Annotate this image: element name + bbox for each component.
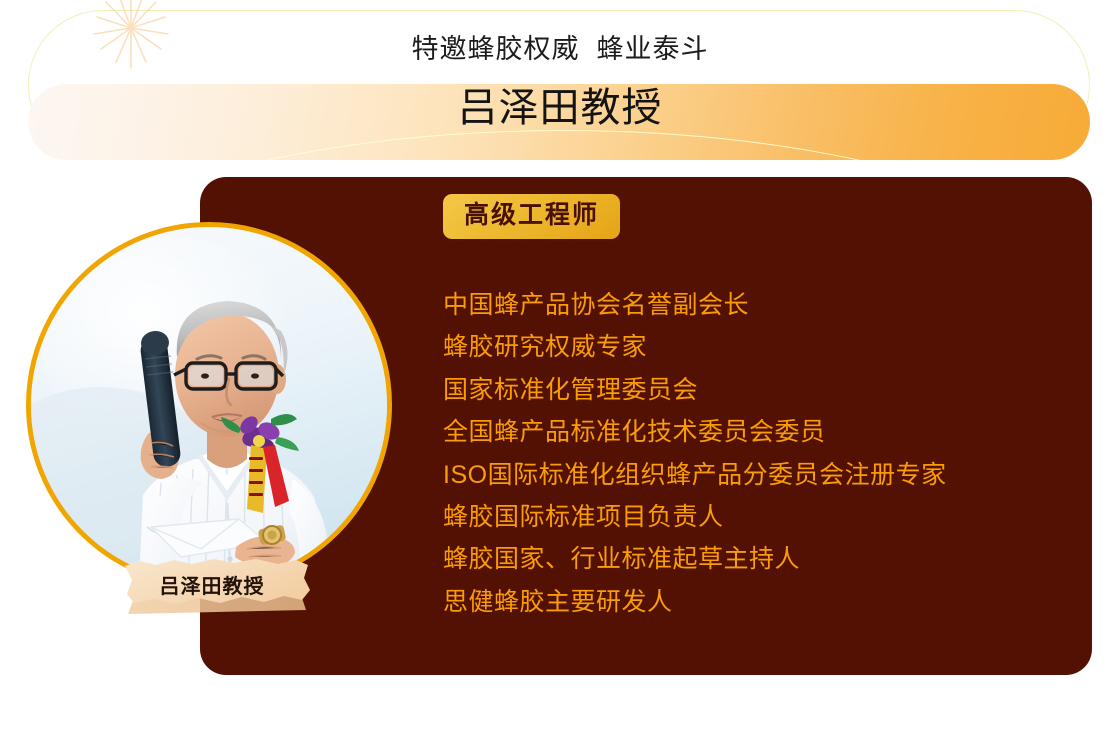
list-item: 国家标准化管理委员会 <box>443 369 1063 411</box>
list-item: ISO国际标准化组织蜂产品分委员会注册专家 <box>443 454 1063 496</box>
avatar <box>26 222 392 588</box>
list-item: 思健蜂胶主要研发人 <box>443 581 1063 623</box>
list-item: 中国蜂产品协会名誉副会长 <box>443 284 1063 326</box>
list-item: 全国蜂产品标准化技术委员会委员 <box>443 411 1063 453</box>
page-title: 吕泽田教授 <box>0 82 1120 134</box>
list-item: 蜂胶研究权威专家 <box>443 326 1063 368</box>
status-badge: 高级工程师 <box>443 194 620 239</box>
credentials-list: 中国蜂产品协会名誉副会长 蜂胶研究权威专家 国家标准化管理委员会 全国蜂产品标准… <box>443 284 1063 623</box>
list-item: 蜂胶国际标准项目负责人 <box>443 496 1063 538</box>
name-ribbon <box>122 558 314 610</box>
header-subtitle: 特邀蜂胶权威 蜂业泰斗 <box>0 27 1120 66</box>
list-item: 蜂胶国家、行业标准起草主持人 <box>443 538 1063 580</box>
